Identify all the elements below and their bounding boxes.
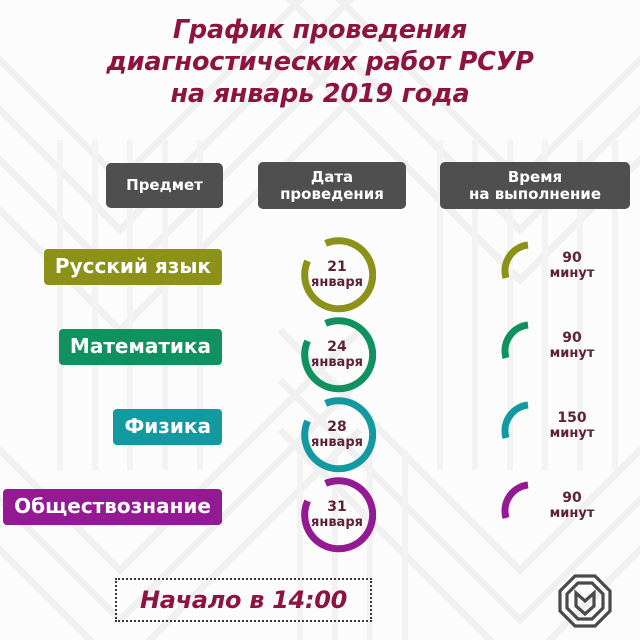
- title-line-2: диагностических работ РСУР: [0, 46, 640, 78]
- subject-pill: Русский язык: [44, 249, 222, 285]
- time-value: 90: [527, 491, 617, 506]
- time-unit: минут: [527, 506, 617, 521]
- date-day: 21: [327, 260, 346, 275]
- date-day: 31: [327, 500, 346, 515]
- page-title: График проведения диагностических работ …: [0, 14, 640, 110]
- octagon-monogram-icon: [556, 572, 614, 630]
- column-header-subject: Предмет: [106, 163, 223, 208]
- time-text: 90 минут: [527, 491, 617, 521]
- table-row: Русский язык 21 января 90 минут: [0, 232, 640, 312]
- time-unit: минут: [527, 346, 617, 361]
- column-header-row: Предмет Дата проведения Время на выполне…: [0, 162, 640, 210]
- time-group: 150 минут: [497, 400, 627, 462]
- date-ring: 31 января: [298, 476, 376, 554]
- time-unit: минут: [527, 426, 617, 441]
- infographic-poster: График проведения диагностических работ …: [0, 0, 640, 640]
- subject-pill: Обществознание: [3, 489, 222, 525]
- subject-pill: Физика: [113, 409, 222, 445]
- column-header-date-label-line2: проведения: [280, 186, 384, 203]
- time-text: 90 минут: [527, 251, 617, 281]
- date-ring: 21 января: [298, 236, 376, 314]
- table-row: Физика 28 января 150 минут: [0, 392, 640, 472]
- table-row: Обществознание 31 января 90 минут: [0, 472, 640, 552]
- date-month: января: [311, 275, 363, 290]
- title-line-3: на январь 2019 года: [0, 78, 640, 110]
- subject-pill: Математика: [59, 329, 222, 365]
- date-text: 21 января: [298, 236, 376, 314]
- date-text: 28 января: [298, 396, 376, 474]
- time-value: 90: [527, 331, 617, 346]
- date-ring: 28 января: [298, 396, 376, 474]
- time-text: 90 минут: [527, 331, 617, 361]
- date-month: января: [311, 355, 363, 370]
- date-text: 24 января: [298, 316, 376, 394]
- title-line-1: График проведения: [0, 14, 640, 46]
- time-value: 150: [527, 411, 617, 426]
- time-group: 90 минут: [497, 320, 627, 382]
- date-day: 28: [327, 420, 346, 435]
- column-header-time-label-line1: Время: [469, 169, 601, 186]
- time-value: 90: [527, 251, 617, 266]
- time-group: 90 минут: [497, 240, 627, 302]
- column-header-time-label-line2: на выполнение: [469, 186, 601, 203]
- date-text: 31 января: [298, 476, 376, 554]
- column-header-date-label-line1: Дата: [280, 169, 384, 186]
- date-month: января: [311, 435, 363, 450]
- column-header-subject-label: Предмет: [126, 177, 203, 194]
- organization-logo: [556, 572, 614, 630]
- time-text: 150 минут: [527, 411, 617, 441]
- date-month: января: [311, 515, 363, 530]
- table-row: Математика 24 января 90 минут: [0, 312, 640, 392]
- start-time-text: Начало в 14:00: [140, 586, 347, 614]
- time-unit: минут: [527, 266, 617, 281]
- start-time-note: Начало в 14:00: [115, 578, 372, 622]
- date-ring: 24 января: [298, 316, 376, 394]
- date-day: 24: [327, 340, 346, 355]
- column-header-time: Время на выполнение: [440, 162, 630, 209]
- column-header-date: Дата проведения: [258, 162, 406, 209]
- time-group: 90 минут: [497, 480, 627, 542]
